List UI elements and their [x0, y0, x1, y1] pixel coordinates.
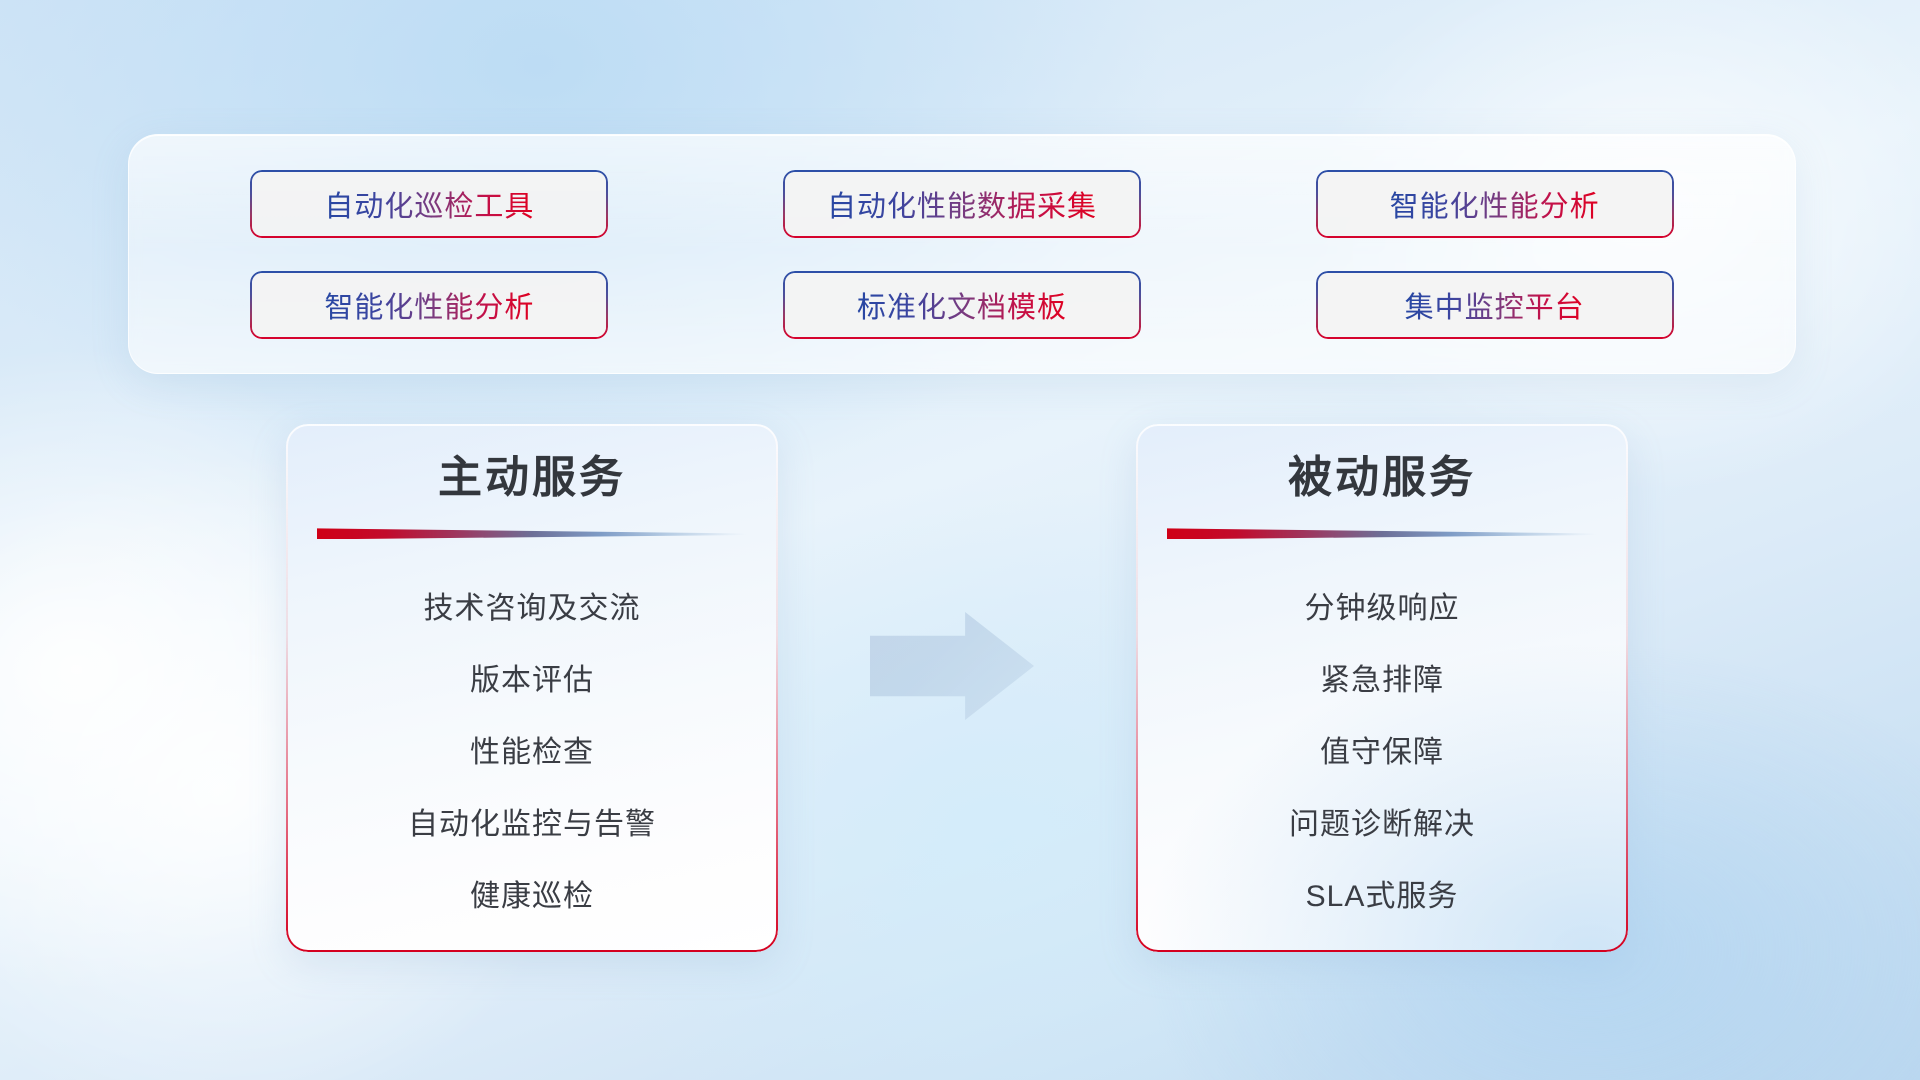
list-item: 技术咨询及交流 [424, 573, 641, 645]
card-divider [1167, 528, 1597, 539]
list-item: 版本评估 [470, 645, 594, 717]
list-item: 分钟级响应 [1305, 573, 1460, 645]
capability-pill-2[interactable]: 自动化性能数据采集 [783, 170, 1141, 238]
card-title: 被动服务 [1288, 454, 1476, 502]
list-item: 性能检查 [470, 717, 594, 789]
capability-pill-label: 自动化性能数据采集 [827, 183, 1097, 225]
list-item: 值守保障 [1320, 717, 1444, 789]
capability-pill-4[interactable]: 智能化性能分析 [250, 271, 608, 339]
capability-pill-label: 标准化文档模板 [857, 284, 1067, 326]
list-item: SLA式服务 [1306, 861, 1459, 933]
card-title: 主动服务 [438, 454, 626, 502]
capability-pill-5[interactable]: 标准化文档模板 [783, 271, 1141, 339]
capability-pill-1[interactable]: 自动化巡检工具 [250, 170, 608, 238]
capability-pill-3[interactable]: 智能化性能分析 [1316, 170, 1674, 238]
arrow-right-icon [870, 612, 1034, 720]
capability-pill-label: 自动化巡检工具 [324, 183, 534, 225]
service-card-passive[interactable]: 被动服务 分钟级响应 紧急排障 值守保障 问题诊断解决 SLA式服务 [1136, 424, 1628, 952]
card-divider [317, 528, 747, 539]
card-list: 技术咨询及交流 版本评估 性能检查 自动化监控与告警 健康巡检 [286, 573, 778, 933]
list-item: 紧急排障 [1320, 645, 1444, 717]
slide-canvas: 自动化巡检工具 自动化性能数据采集 智能化性能分析 智能化性能分析 标准化文档模… [0, 0, 1920, 1080]
capability-pill-label: 智能化性能分析 [324, 284, 534, 326]
list-item: 健康巡检 [470, 861, 594, 933]
service-card-active[interactable]: 主动服务 技术咨询及交流 版本评估 性能检查 自动化监控与告警 健康巡检 [286, 424, 778, 952]
card-list: 分钟级响应 紧急排障 值守保障 问题诊断解决 SLA式服务 [1136, 573, 1628, 933]
capability-pill-6[interactable]: 集中监控平台 [1316, 271, 1674, 339]
capability-pill-label: 智能化性能分析 [1390, 183, 1600, 225]
list-item: 自动化监控与告警 [408, 789, 656, 861]
capability-pill-label: 集中监控平台 [1405, 284, 1585, 326]
list-item: 问题诊断解决 [1289, 789, 1475, 861]
capabilities-panel: 自动化巡检工具 自动化性能数据采集 智能化性能分析 智能化性能分析 标准化文档模… [128, 134, 1796, 374]
